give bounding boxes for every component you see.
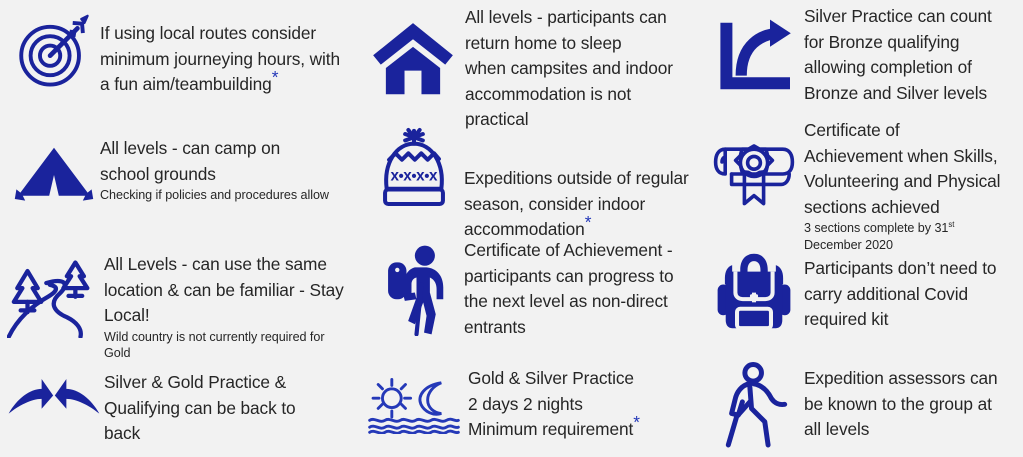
info-cell-text: If using local routes consider minimum j…: [100, 0, 352, 98]
info-cell-text: Silver & Gold Practice & Qualifying can …: [104, 356, 352, 447]
expedition-changes-infographic: If using local routes consider minimum j…: [0, 0, 1023, 457]
info-cell-text: All levels - can camp on school grounds …: [100, 118, 352, 204]
info-cell-text: All Levels - can use the same location &…: [104, 238, 352, 362]
info-cell-same-location-stay-local: All Levels - can use the same location &…: [0, 238, 352, 356]
info-cell-local-routes: If using local routes consider minimum j…: [0, 0, 352, 118]
cell-main-text: If using local routes consider minimum j…: [100, 23, 340, 94]
info-cell-assessors-known-to-group: Expedition assessors can be known to the…: [700, 356, 1023, 457]
double-arrow-icon: [4, 356, 104, 422]
cell-main-text: Participants don’t need to carry additio…: [804, 256, 1017, 333]
info-cell-certificate-sections-achieved: Certificate of Achievement when Skills, …: [700, 118, 1023, 238]
cell-main-text: Certificate of Achievement - participant…: [464, 238, 692, 340]
svg-text:x: x: [403, 168, 412, 185]
info-cell-text: All levels - participants can return hom…: [465, 0, 700, 133]
footnote-asterisk: *: [272, 67, 279, 87]
cell-main-text: All Levels - can use the same location &…: [104, 252, 348, 329]
house-icon: [360, 0, 465, 96]
trees-path-icon: [4, 238, 104, 338]
target-arrow-icon: [8, 0, 100, 90]
info-cell-no-additional-covid-kit: Participants don’t need to carry additio…: [700, 238, 1023, 356]
winter-hat-icon: x x x x: [364, 118, 464, 208]
cell-main-text: Gold & Silver Practice 2 days 2 nights M…: [468, 368, 634, 439]
info-cell-text: Gold & Silver Practice 2 days 2 nights M…: [468, 356, 700, 443]
hiker-backpack-icon: [364, 238, 464, 336]
info-cell-gold-silver-practice-2-days-2-nights: Gold & Silver Practice 2 days 2 nights M…: [352, 356, 700, 457]
curved-arrow-graph-icon: [704, 0, 804, 94]
cell-main-text: Silver Practice can count for Bronze qua…: [804, 4, 1017, 106]
footnote-asterisk: *: [633, 412, 640, 432]
svg-text:x: x: [416, 168, 425, 185]
info-cell-camp-on-school-grounds: All levels - can camp on school grounds …: [0, 118, 352, 238]
cell-main-text: Expeditions outside of regular season, c…: [464, 168, 689, 239]
cell-main-text: All levels - can camp on school grounds: [100, 136, 346, 187]
info-cell-practice-qualifying-back-to-back: Silver & Gold Practice & Qualifying can …: [0, 356, 352, 457]
sub-text-prefix: 3 sections complete by 31: [804, 221, 948, 235]
cell-sub-text: Checking if policies and procedures allo…: [100, 187, 346, 204]
info-cell-text: Certificate of Achievement when Skills, …: [804, 118, 1023, 253]
info-cell-return-home-to-sleep: All levels - participants can return hom…: [352, 0, 700, 118]
info-cell-text: Certificate of Achievement - participant…: [464, 238, 700, 340]
footnote-asterisk: *: [585, 212, 592, 232]
info-cell-text: Expeditions outside of regular season, c…: [464, 118, 700, 243]
cell-main-text: Expedition assessors can be known to the…: [804, 366, 1017, 443]
info-cell-text: Expedition assessors can be known to the…: [804, 356, 1023, 443]
info-cell-text: Silver Practice can count for Bronze qua…: [804, 0, 1023, 106]
walking-person-icon: [704, 356, 804, 450]
svg-text:x: x: [390, 168, 399, 185]
certificate-scroll-icon: [704, 118, 804, 210]
info-cell-text: Participants don’t need to carry additio…: [804, 238, 1023, 333]
cell-main-text: Certificate of Achievement when Skills, …: [804, 118, 1017, 220]
cell-main-text: Silver & Gold Practice & Qualifying can …: [104, 370, 346, 447]
sun-moon-water-icon: [360, 356, 468, 434]
tent-icon: [8, 118, 100, 204]
svg-text:x: x: [429, 168, 438, 185]
cell-main-text: All levels - participants can return hom…: [465, 5, 692, 133]
info-cell-expeditions-outside-season: x x x x Expeditions outside of regular s…: [352, 118, 700, 238]
info-cell-silver-practice-counts-bronze: Silver Practice can count for Bronze qua…: [700, 0, 1023, 118]
info-cell-certificate-non-direct-entrants: Certificate of Achievement - participant…: [352, 238, 700, 356]
ordinal-suffix: st: [948, 220, 954, 229]
backpack-icon: [704, 238, 804, 330]
